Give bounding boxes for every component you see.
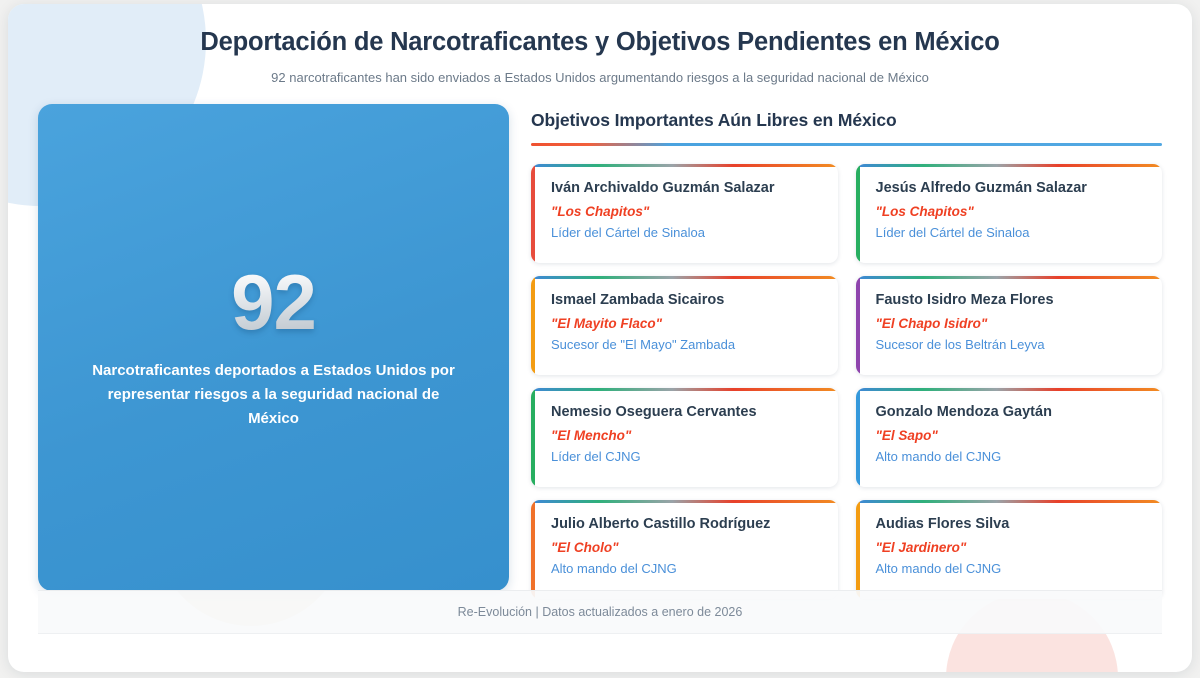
header: Deportación de Narcotraficantes y Objeti… bbox=[8, 4, 1192, 85]
target-name: Gonzalo Mendoza Gaytán bbox=[876, 403, 1149, 421]
target-name: Fausto Isidro Meza Flores bbox=[876, 291, 1149, 309]
target-card[interactable]: Nemesio Oseguera Cervantes"El Mencho"Líd… bbox=[531, 388, 838, 487]
footer: Re-Evolución | Datos actualizados a ener… bbox=[38, 590, 1162, 634]
target-card[interactable]: Ismael Zambada Sicairos"El Mayito Flaco"… bbox=[531, 276, 838, 375]
target-card[interactable]: Iván Archivaldo Guzmán Salazar"Los Chapi… bbox=[531, 164, 838, 263]
target-name: Audias Flores Silva bbox=[876, 515, 1149, 533]
stat-caption: Narcotraficantes deportados a Estados Un… bbox=[92, 359, 455, 432]
page-subtitle: 92 narcotraficantes han sido enviados a … bbox=[8, 70, 1192, 85]
target-role: Alto mando del CJNG bbox=[551, 561, 824, 576]
target-alias: "El Mayito Flaco" bbox=[551, 316, 824, 331]
target-card[interactable]: Jesús Alfredo Guzmán Salazar"Los Chapito… bbox=[856, 164, 1163, 263]
deportation-stat-panel: 92 Narcotraficantes deportados a Estados… bbox=[38, 104, 509, 591]
target-role: Alto mando del CJNG bbox=[876, 561, 1149, 576]
target-card[interactable]: Fausto Isidro Meza Flores"El Chapo Isidr… bbox=[856, 276, 1163, 375]
target-card[interactable]: Julio Alberto Castillo Rodríguez"El Chol… bbox=[531, 500, 838, 599]
page-title: Deportación de Narcotraficantes y Objeti… bbox=[8, 27, 1192, 58]
target-card-grid: Iván Archivaldo Guzmán Salazar"Los Chapi… bbox=[531, 164, 1162, 599]
main-content: 92 Narcotraficantes deportados a Estados… bbox=[8, 104, 1192, 600]
target-alias: "El Mencho" bbox=[551, 428, 824, 443]
target-name: Ismael Zambada Sicairos bbox=[551, 291, 824, 309]
target-role: Sucesor de "El Mayo" Zambada bbox=[551, 337, 824, 352]
target-alias: "El Sapo" bbox=[876, 428, 1149, 443]
target-role: Sucesor de los Beltrán Leyva bbox=[876, 337, 1149, 352]
content-surface: Deportación de Narcotraficantes y Objeti… bbox=[8, 4, 1192, 672]
section-title: Objetivos Importantes Aún Libres en Méxi… bbox=[531, 110, 1162, 131]
target-name: Julio Alberto Castillo Rodríguez bbox=[551, 515, 824, 533]
footer-text: Re-Evolución | Datos actualizados a ener… bbox=[458, 605, 743, 619]
target-role: Alto mando del CJNG bbox=[876, 449, 1149, 464]
target-role: Líder del CJNG bbox=[551, 449, 824, 464]
target-alias: "Los Chapitos" bbox=[876, 204, 1149, 219]
infographic-page: Deportación de Narcotraficantes y Objeti… bbox=[0, 0, 1200, 678]
stat-number: 92 bbox=[231, 263, 316, 341]
target-alias: "El Jardinero" bbox=[876, 540, 1149, 555]
target-card[interactable]: Gonzalo Mendoza Gaytán"El Sapo"Alto mand… bbox=[856, 388, 1163, 487]
target-alias: "Los Chapitos" bbox=[551, 204, 824, 219]
target-role: Líder del Cártel de Sinaloa bbox=[876, 225, 1149, 240]
targets-section: Objetivos Importantes Aún Libres en Méxi… bbox=[531, 104, 1162, 599]
target-name: Nemesio Oseguera Cervantes bbox=[551, 403, 824, 421]
section-divider bbox=[531, 143, 1162, 146]
target-alias: "El Cholo" bbox=[551, 540, 824, 555]
target-name: Iván Archivaldo Guzmán Salazar bbox=[551, 179, 824, 197]
target-alias: "El Chapo Isidro" bbox=[876, 316, 1149, 331]
target-name: Jesús Alfredo Guzmán Salazar bbox=[876, 179, 1149, 197]
target-role: Líder del Cártel de Sinaloa bbox=[551, 225, 824, 240]
target-card[interactable]: Audias Flores Silva"El Jardinero"Alto ma… bbox=[856, 500, 1163, 599]
